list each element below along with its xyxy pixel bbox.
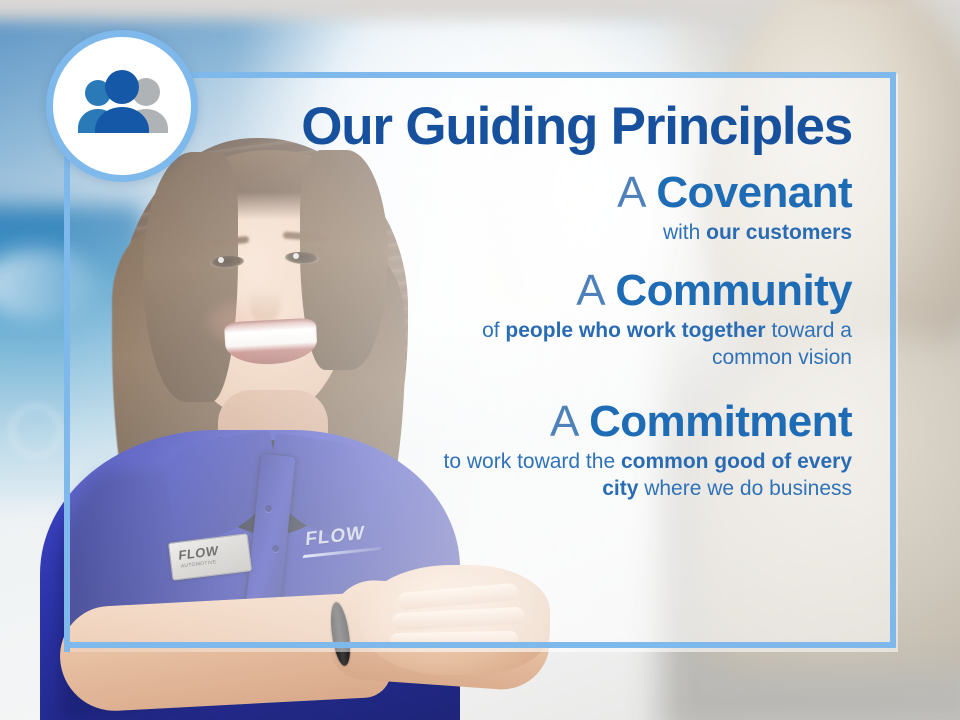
page-title: Our Guiding Principles: [301, 100, 852, 154]
principle-covenant-article: A: [617, 168, 644, 217]
principle-community-subtext: of people who work together toward a com…: [422, 317, 852, 372]
principle-commitment-word: Commitment: [589, 397, 852, 446]
banner-graphic: FLOW FLOW AUTOMOTIVE: [0, 0, 960, 720]
principle-community-title: A Community: [422, 268, 852, 315]
principle-commitment-article: A: [550, 397, 577, 446]
principle-covenant-word: Covenant: [656, 168, 852, 217]
principle-covenant: A Covenant with our customers: [617, 170, 852, 246]
principle-covenant-title: A Covenant: [617, 170, 852, 217]
principle-community-article: A: [576, 266, 603, 315]
principle-covenant-subtext: with our customers: [617, 219, 852, 246]
principle-community: A Community of people who work together …: [422, 268, 852, 371]
text-content: Our Guiding Principles A Covenant with o…: [86, 84, 876, 636]
principle-commitment-subtext: to work toward the common good of every …: [422, 448, 852, 503]
principle-community-word: Community: [615, 266, 852, 315]
left-accent-line: [64, 196, 70, 652]
principle-commitment: A Commitment to work toward the common g…: [422, 399, 852, 502]
principle-commitment-title: A Commitment: [422, 399, 852, 446]
